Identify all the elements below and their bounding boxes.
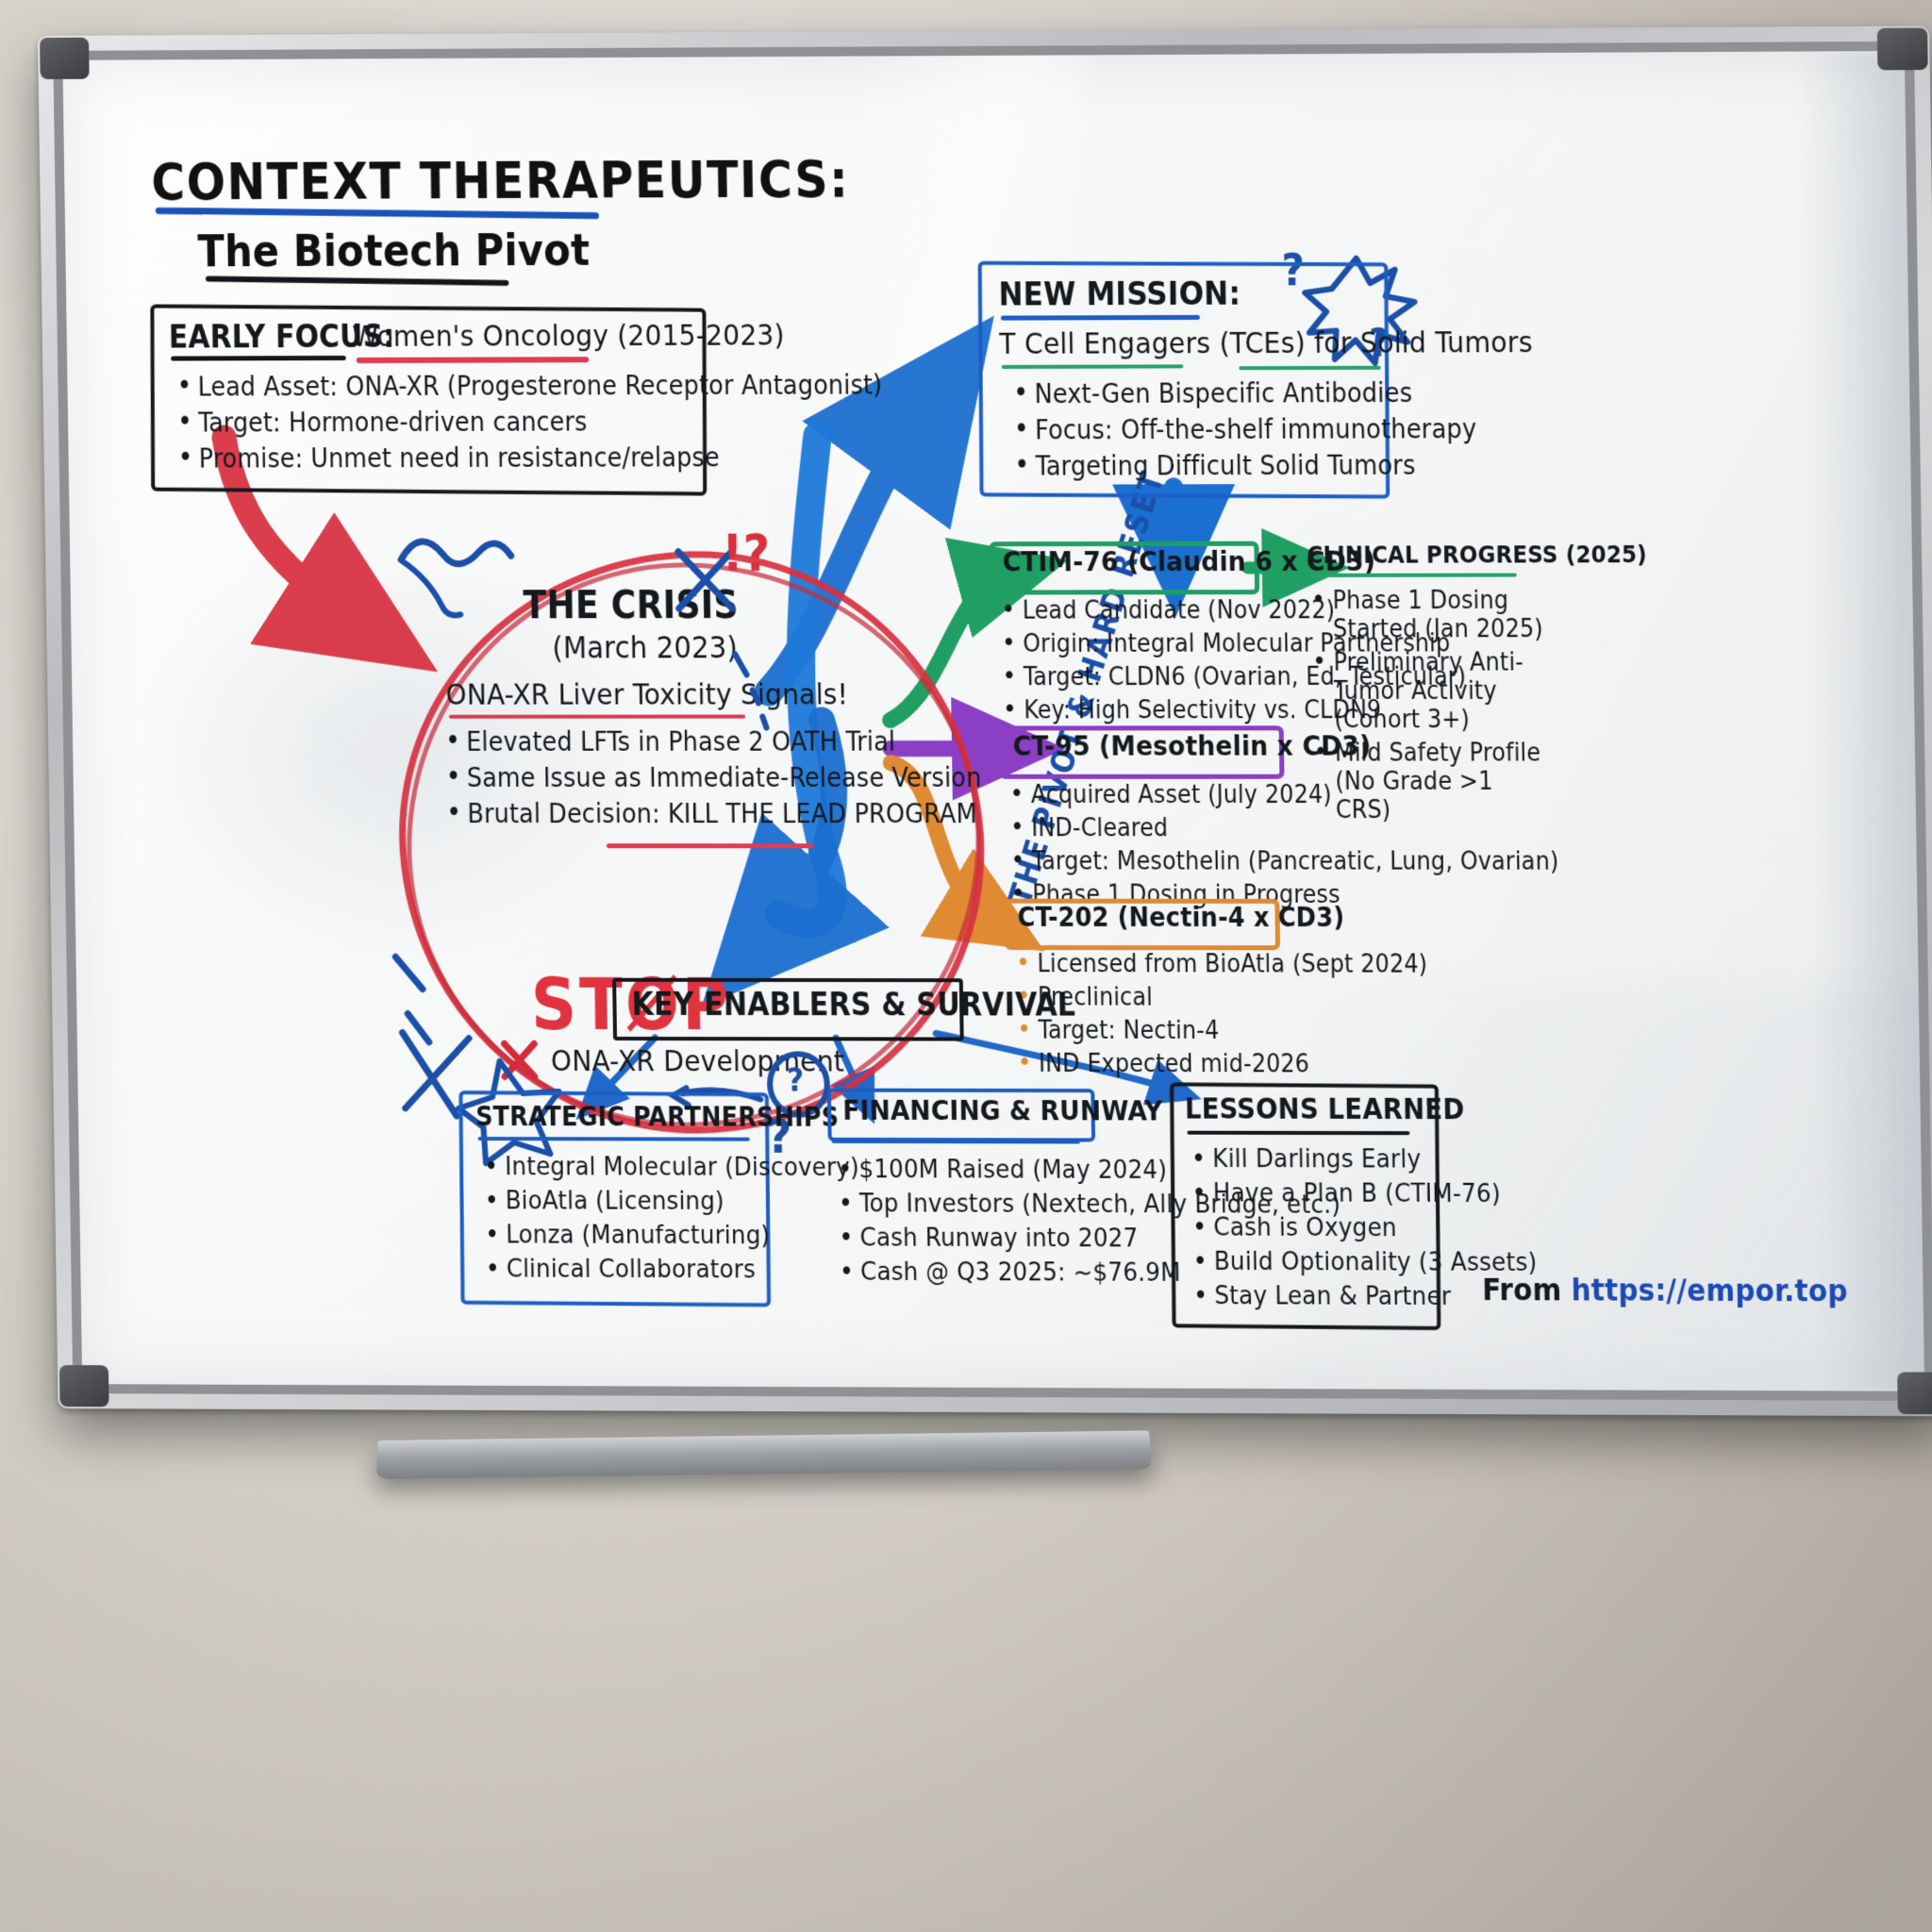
list-item: Phase 1 Dosing Started (Jan 2025) [1307, 587, 1547, 644]
early-focus-bullets: Lead Asset: ONA-XR (Progesterone Recepto… [173, 369, 883, 478]
list-item: Next-Gen Bispecific Antibodies [1009, 377, 1476, 410]
early-focus-value-underline [357, 357, 589, 363]
question-mark-circled: ? [787, 1061, 805, 1099]
list-item: Have a Plan B (CTIM-76) [1188, 1178, 1536, 1208]
ink-layer: CONTEXT THERAPEUTICS: The Biotech Pivot [62, 51, 1924, 1391]
new-mission-headline-underline-a [1002, 364, 1184, 369]
asset-ct95-bullets: Acquired Asset (July 2024) IND-Cleared T… [1006, 781, 1559, 914]
new-mission-bullets: Next-Gen Bispecific Antibodies Focus: Of… [1009, 377, 1477, 487]
list-item: Clinical Collaborators [481, 1254, 860, 1284]
financing-underline [832, 1140, 1080, 1144]
new-mission-label: NEW MISSION: [998, 275, 1241, 313]
list-item: Acquired Asset (July 2024) [1006, 781, 1557, 809]
list-item: Kill Darlings Early [1188, 1144, 1536, 1174]
frame-corner-top-left [40, 38, 90, 79]
early-focus-value: Women's Oncology (2015-2023) [352, 318, 785, 354]
clinical-progress-underline [1309, 574, 1517, 577]
whiteboard-scene: CONTEXT THERAPEUTICS: The Biotech Pivot [0, 0, 1932, 1932]
list-item: Integral Molecular (Discovery) [480, 1152, 859, 1182]
asset-ct202-name: CT-202 (Nectin-4 x CD3) [1017, 902, 1344, 934]
whiteboard-frame: CONTEXT THERAPEUTICS: The Biotech Pivot [38, 25, 1932, 1416]
key-enablers-title: KEY ENABLERS & SURVIVAL [631, 986, 1075, 1024]
new-mission-headline: T Cell Engagers (TCEs) for Solid Tumors [999, 325, 1533, 361]
clinical-progress-title: CLINICAL PROGRESS (2025) [1307, 541, 1647, 569]
whiteboard-surface: CONTEXT THERAPEUTICS: The Biotech Pivot [62, 51, 1924, 1391]
list-item: Targeting Difficult Solid Tumors [1010, 449, 1477, 481]
list-item: IND-Cleared [1007, 814, 1558, 842]
footer-attribution: From https://empor.top [1482, 1272, 1848, 1309]
lessons-title: LESSONS LEARNED [1185, 1092, 1465, 1126]
partnerships-underline [478, 1137, 750, 1141]
partnerships-bullets: Integral Molecular (Discovery) BioAtla (… [480, 1152, 861, 1290]
footer-url[interactable]: https://empor.top [1571, 1272, 1847, 1308]
frame-corner-top-right [1877, 28, 1928, 71]
pen-tray [376, 1430, 1153, 1478]
early-focus-label-underline [171, 356, 346, 361]
doodle-marks [343, 502, 847, 1166]
frame-corner-bottom-right [1897, 1372, 1932, 1414]
lessons-underline [1187, 1131, 1409, 1136]
frame-corner-bottom-left [59, 1365, 109, 1407]
partnerships-title: STRATEGIC PARTNERSHIPS [475, 1101, 839, 1133]
list-item: Promise: Unmet need in resistance/relaps… [175, 441, 884, 475]
list-item: BioAtla (Licensing) [480, 1186, 859, 1216]
new-mission-label-underline [1001, 315, 1200, 321]
list-item: Preliminary Anti-Tumor Activity (Cohort … [1308, 648, 1548, 734]
financing-title: FINANCING & RUNWAY [842, 1094, 1163, 1127]
new-mission-headline-underline-b [1239, 366, 1381, 370]
list-item: Target: Mesothelin (Pancreatic, Lung, Ov… [1007, 847, 1558, 875]
list-item: Cash is Oxygen [1189, 1212, 1537, 1242]
whiteboard: CONTEXT THERAPEUTICS: The Biotech Pivot [38, 25, 1932, 1416]
footer-prefix: From [1482, 1272, 1572, 1308]
list-item: Target: Hormone-driven cancers [174, 406, 883, 439]
exclaim-question-icon: !? [722, 523, 771, 582]
list-item: IND Expected mid-2026 [1014, 1050, 1430, 1079]
list-item: Licensed from BioAtla (Sept 2024) [1012, 950, 1428, 979]
list-item: Focus: Off-the-shelf immunotherapy [1010, 413, 1477, 446]
list-item: Lonza (Manufacturing) [481, 1220, 860, 1250]
asset-ct95-name: CT-95 (Mesothelin x CD3) [1013, 729, 1372, 761]
list-item: Lead Asset: ONA-XR (Progesterone Recepto… [173, 369, 882, 402]
